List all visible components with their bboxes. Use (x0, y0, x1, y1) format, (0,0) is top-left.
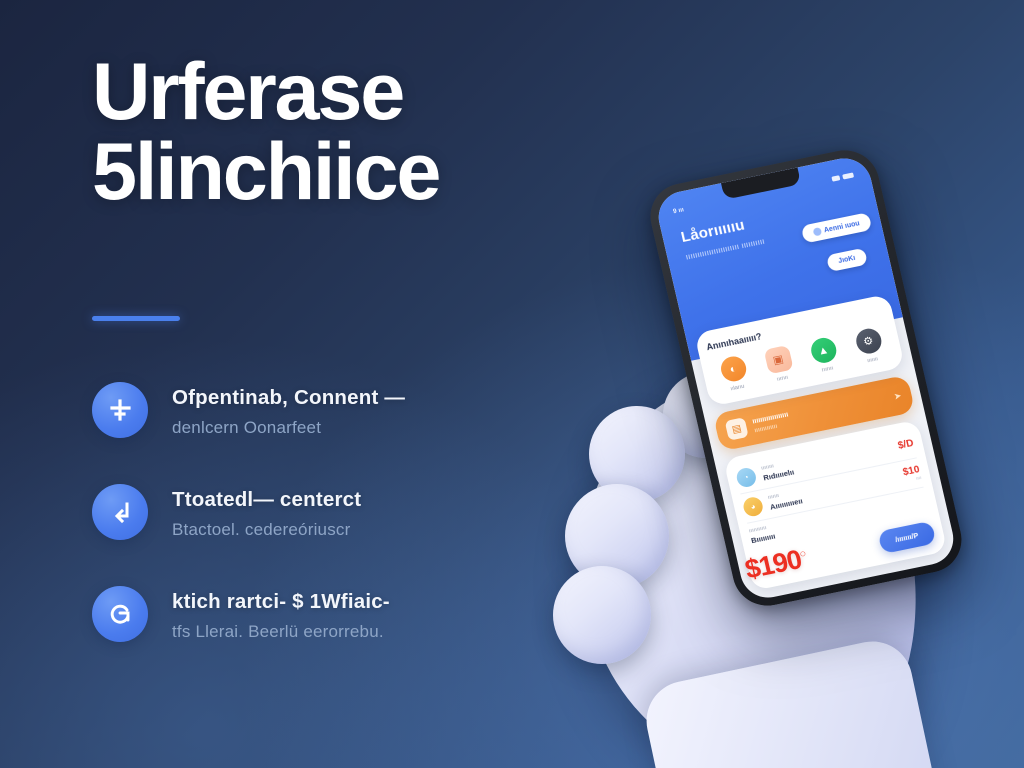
chevron-right-icon: ➤ (893, 390, 903, 402)
quick-action-3[interactable]: ▲ rıırııı (802, 334, 847, 376)
orange-circle-icon: ◐ (718, 354, 748, 383)
quick-action-label: ııııııı (853, 353, 892, 366)
arrow-turn-icon (92, 484, 148, 540)
row-price-value: $/D (897, 437, 915, 451)
accent-divider (92, 316, 180, 321)
primary-cta-button[interactable]: /ııııııı/P (877, 520, 936, 554)
pill-label: JıoKı (838, 255, 856, 265)
quick-action-1[interactable]: ◐ ıılarıu (712, 353, 757, 395)
status-time: 9 ııı (672, 206, 684, 215)
avatar (812, 227, 822, 236)
signal-icon (831, 175, 840, 181)
list-item[interactable]: ktich rartci- $ 1Wfiaic- tfs Llerai. Bee… (92, 586, 572, 688)
battery-icon (842, 172, 854, 179)
headline-line-1: Urferase (92, 47, 403, 137)
page-title: Urferase 5linchiice (92, 52, 652, 212)
list-item-title: Ttoatedl— centerct (172, 488, 361, 512)
row-price: $10 ıııı (902, 464, 922, 484)
asterisk-plus-icon (92, 382, 148, 438)
peach-square-icon: ▣ (763, 345, 793, 374)
yellow-avatar-icon: ◕ (742, 496, 765, 518)
list-item-subtitle: tfs Llerai. Beerlü eerorrebu. (172, 622, 384, 642)
headline-line-2: 5linchiice (92, 132, 652, 212)
feature-list: Ofpentinab, Connent — denlcern Oonarfeet… (92, 382, 572, 688)
promo-banner-text: ıııııııııııııııııı ııııııııııııı (751, 389, 889, 434)
list-item[interactable]: Ofpentinab, Connent — denlcern Oonarfeet (92, 382, 572, 484)
blue-avatar-icon: ◔ (735, 466, 758, 488)
quick-action-2[interactable]: ▣ ııırııı (757, 344, 802, 386)
list-item-subtitle: denlcern Oonarfeet (172, 418, 321, 438)
list-item-title: Ofpentinab, Connent — (172, 386, 405, 410)
green-circle-icon: ▲ (808, 336, 838, 365)
finger (553, 566, 651, 664)
header-pill-button-2[interactable]: JıoKı (826, 248, 868, 272)
quick-action-label: rıırııı (808, 363, 847, 376)
gray-circle-icon: ⚙ (853, 327, 883, 356)
list-item-subtitle: Btactoel. cedereóriuscr (172, 520, 350, 540)
quick-action-label: ııırııı (763, 372, 802, 385)
card-stack-icon: ▤ (725, 417, 749, 441)
poster-canvas: Urferase 5linchiice Ofpentinab, Connent … (0, 0, 1024, 768)
list-item[interactable]: Ttoatedl— centerct Btactoel. cedereórius… (92, 484, 572, 586)
refresh-g-icon (92, 586, 148, 642)
quick-action-label: ıılarıu (718, 381, 757, 394)
row-price: $/D (897, 437, 915, 452)
pill-label: Aenni ıuou (823, 220, 860, 234)
status-indicators (831, 172, 854, 181)
quick-action-4[interactable]: ⚙ ııııııı (847, 325, 892, 367)
list-item-title: ktich rartci- $ 1Wfiaic- (172, 590, 390, 614)
